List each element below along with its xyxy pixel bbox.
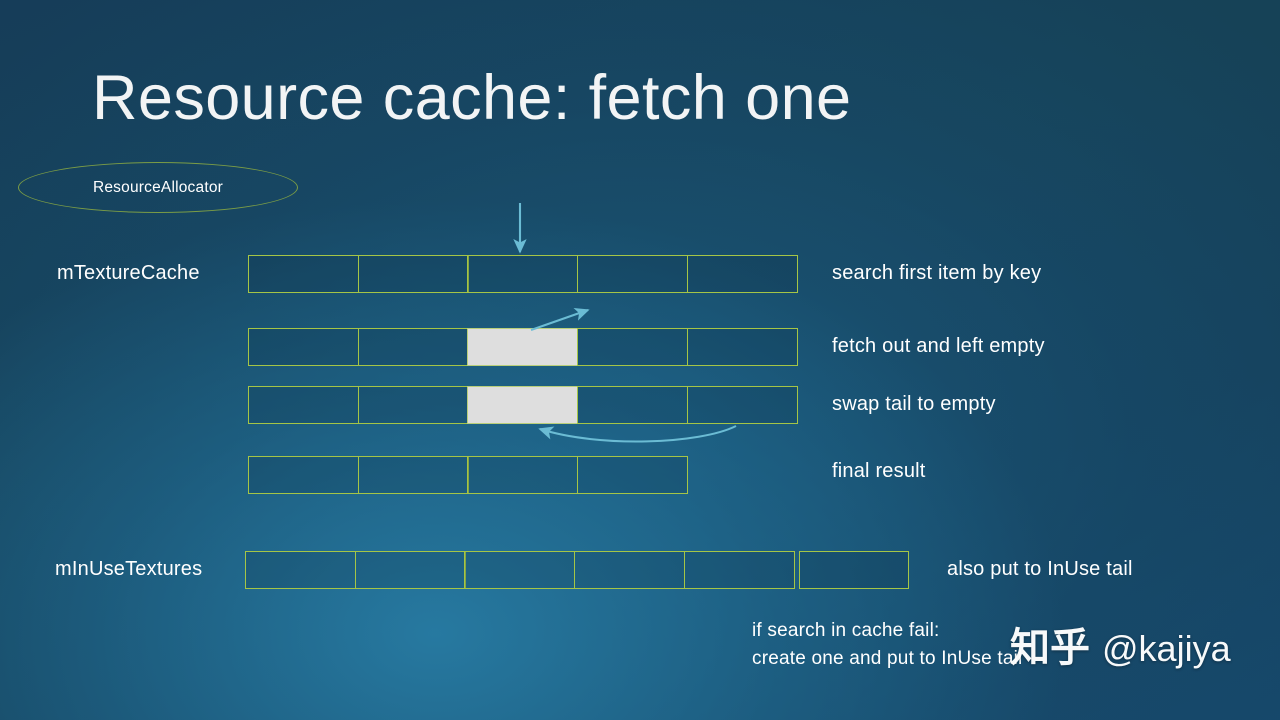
row-fetch-out: [248, 328, 801, 366]
note-inuse-tail: also put to InUse tail: [947, 558, 1133, 581]
footnote-line-2: create one and put to InUse tail: [752, 645, 1022, 673]
swap-tail-curved-arrow: [540, 426, 736, 441]
note-fetch-out: fetch out and left empty: [832, 335, 1045, 358]
grid-cell[interactable]: [577, 328, 688, 366]
row-inuse-textures: [245, 551, 911, 589]
grid-cell[interactable]: [358, 255, 469, 293]
grid-cell[interactable]: [245, 551, 356, 589]
note-swap-tail: swap tail to empty: [832, 393, 996, 416]
grid-cell[interactable]: [358, 386, 469, 424]
grid-cell[interactable]: [574, 551, 685, 589]
note-search-first-item: search first item by key: [832, 262, 1041, 285]
watermark: 知乎 @kajiya: [1010, 628, 1231, 668]
resource-allocator-label: ResourceAllocator: [19, 179, 297, 197]
watermark-handle: @kajiya: [1102, 631, 1231, 667]
grid-cell[interactable]: [577, 386, 688, 424]
row-texture-cache-initial: [248, 255, 801, 293]
grid-cell[interactable]: [687, 328, 798, 366]
watermark-site: 知乎: [1010, 628, 1090, 668]
page-title: Resource cache: fetch one: [92, 62, 851, 134]
grid-cell[interactable]: [248, 328, 359, 366]
grid-cell[interactable]: [577, 255, 688, 293]
fetch-out-up-arrow: [531, 310, 588, 330]
note-final-result: final result: [832, 460, 926, 483]
grid-cell[interactable]: [687, 255, 798, 293]
grid-cell-highlighted[interactable]: [467, 328, 578, 366]
grid-cell-detached[interactable]: [799, 551, 909, 589]
grid-cell[interactable]: [577, 456, 688, 494]
grid-cell[interactable]: [355, 551, 466, 589]
slide-canvas: Resource cache: fetch one ResourceAlloca…: [0, 0, 1280, 720]
grid-cell[interactable]: [248, 386, 359, 424]
row-final-result: [248, 456, 692, 494]
grid-cell[interactable]: [467, 255, 578, 293]
grid-cell[interactable]: [687, 386, 798, 424]
label-mtexturecache: mTextureCache: [57, 262, 200, 285]
grid-cell[interactable]: [358, 328, 469, 366]
resource-allocator-ellipse: ResourceAllocator: [18, 162, 298, 213]
grid-cell[interactable]: [467, 456, 578, 494]
footnote-line-1: if search in cache fail:: [752, 617, 1022, 645]
grid-cell-highlighted[interactable]: [467, 386, 578, 424]
footnote: if search in cache fail: create one and …: [752, 617, 1022, 673]
label-minusetextures: mInUseTextures: [55, 558, 202, 581]
row-swap-tail: [248, 386, 801, 424]
grid-cell[interactable]: [684, 551, 795, 589]
grid-cell[interactable]: [358, 456, 469, 494]
grid-cell[interactable]: [464, 551, 575, 589]
grid-cell[interactable]: [248, 456, 359, 494]
grid-cell[interactable]: [248, 255, 359, 293]
